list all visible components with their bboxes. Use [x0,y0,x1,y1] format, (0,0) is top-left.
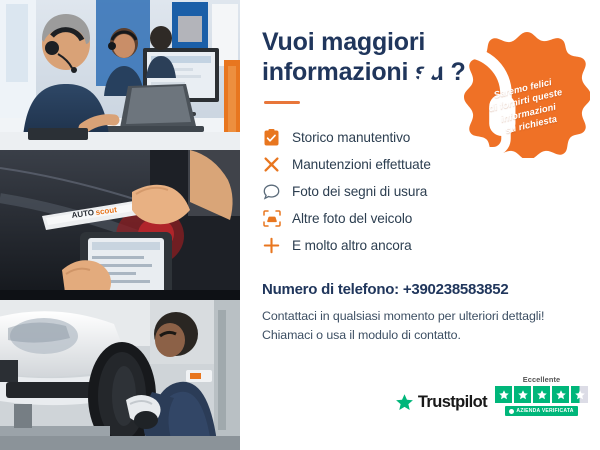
star-1 [495,386,512,403]
star-5-half [571,386,588,403]
feature-label: Altre foto del veicolo [292,211,412,226]
star-3 [533,386,550,403]
car-scan-icon [262,209,281,228]
trustpilot-star-icon [395,393,414,412]
contact-line-2: Chiamaci o usa il modulo di contatto. [262,326,582,345]
trustpilot-rating-label: Eccellente [523,375,561,384]
verified-company-badge: AZIENDA VERIFICATA [505,406,577,416]
trustpilot-stars [495,386,588,403]
title-divider [264,101,300,104]
verified-check-icon [509,409,514,414]
verified-label: AZIENDA VERIFICATA [516,408,573,414]
feature-label: Storico manutentivo [292,130,410,145]
clipboard-check-icon [262,128,281,147]
speech-bubble-icon [262,182,281,201]
request-info-badge: Saremo felici di fornirti queste informa… [464,30,590,158]
vehicle-damage-measure-photo: AUTO scout [0,150,240,300]
photo-column: AUTO scout [0,0,240,450]
feature-label: Manutenzioni effettuate [292,157,431,172]
trustpilot-wordmark: Trustpilot [418,393,487,412]
feature-label: E molto altro ancora [292,238,412,253]
contact-info-banner: AUTO scout [0,0,600,450]
star-2 [514,386,531,403]
star-4 [552,386,569,403]
contact-line-1: Contattaci in qualsiasi momento per ulte… [262,307,582,326]
feature-item-altro-ancora: E molto altro ancora [262,232,582,259]
trustpilot-rating[interactable]: Trustpilot Eccellente [395,375,588,416]
trustpilot-score-block: Eccellente [495,375,588,416]
feature-label: Foto dei segni di usura [292,184,427,199]
wrench-cross-icon [262,155,281,174]
plus-icon [262,236,281,255]
mechanic-tire-inspection-photo [0,300,240,450]
trustpilot-logo: Trustpilot [395,393,487,416]
feature-item-foto-usura: Foto dei segni di usura [262,178,582,205]
phone-label: Numero di telefono: [262,281,399,298]
phone-number[interactable]: +390238583852 [403,281,509,298]
contact-instructions: Contattaci in qualsiasi momento per ulte… [262,307,582,344]
call-center-agents-photo [0,0,240,150]
phone-number-line: Numero di telefono: +390238583852 [262,281,582,298]
feature-item-altre-foto: Altre foto del veicolo [262,205,582,232]
content-panel: Vuoi maggiori informazioni su ? Saremo f… [240,0,600,450]
